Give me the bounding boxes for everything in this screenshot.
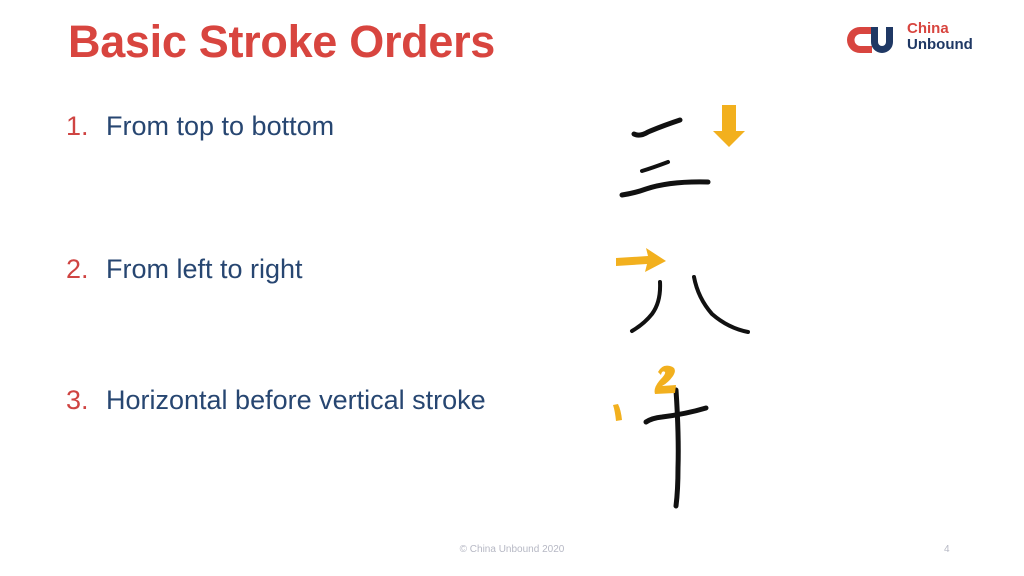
page-title: Basic Stroke Orders <box>68 16 495 68</box>
list-item-2-number: 2. <box>66 254 106 285</box>
brand-logo-line-china: China <box>907 21 973 37</box>
stroke-order-label-1 <box>613 404 622 421</box>
brand-logo: China Unbound <box>846 20 981 62</box>
footer-copyright: © China Unbound 2020 <box>0 544 1024 555</box>
slide-canvas: Basic Stroke Orders China Unbound 1. Fro… <box>0 0 1024 576</box>
list-item-2: 2. From left to right <box>66 254 303 285</box>
brand-logo-line-unbound: Unbound <box>907 37 973 53</box>
brand-logo-text: China Unbound <box>907 21 973 53</box>
character-san-strokes <box>622 120 708 195</box>
list-item-1-label: From top to bottom <box>106 111 334 142</box>
list-item-3-number: 3. <box>66 385 106 416</box>
handwritten-character-shi-illustration <box>600 360 760 515</box>
list-item-3: 3. Horizontal before vertical stroke <box>66 385 486 416</box>
character-shi-strokes <box>646 390 706 506</box>
list-item-1-number: 1. <box>66 111 106 142</box>
stroke-direction-arrow-down-icon <box>713 105 745 147</box>
list-item-2-label: From left to right <box>106 254 303 285</box>
page-number: 4 <box>944 544 950 555</box>
character-ba-strokes <box>632 277 748 332</box>
stroke-order-label-2 <box>655 366 676 394</box>
stroke-direction-arrow-right-icon <box>616 248 666 272</box>
handwritten-character-san-illustration <box>600 95 800 210</box>
china-unbound-cu-monogram-icon <box>846 23 900 57</box>
list-item-3-label: Horizontal before vertical stroke <box>106 385 486 416</box>
stroke-order-markers <box>613 366 676 421</box>
handwritten-character-ba-illustration <box>600 240 800 345</box>
list-item-1: 1. From top to bottom <box>66 111 334 142</box>
